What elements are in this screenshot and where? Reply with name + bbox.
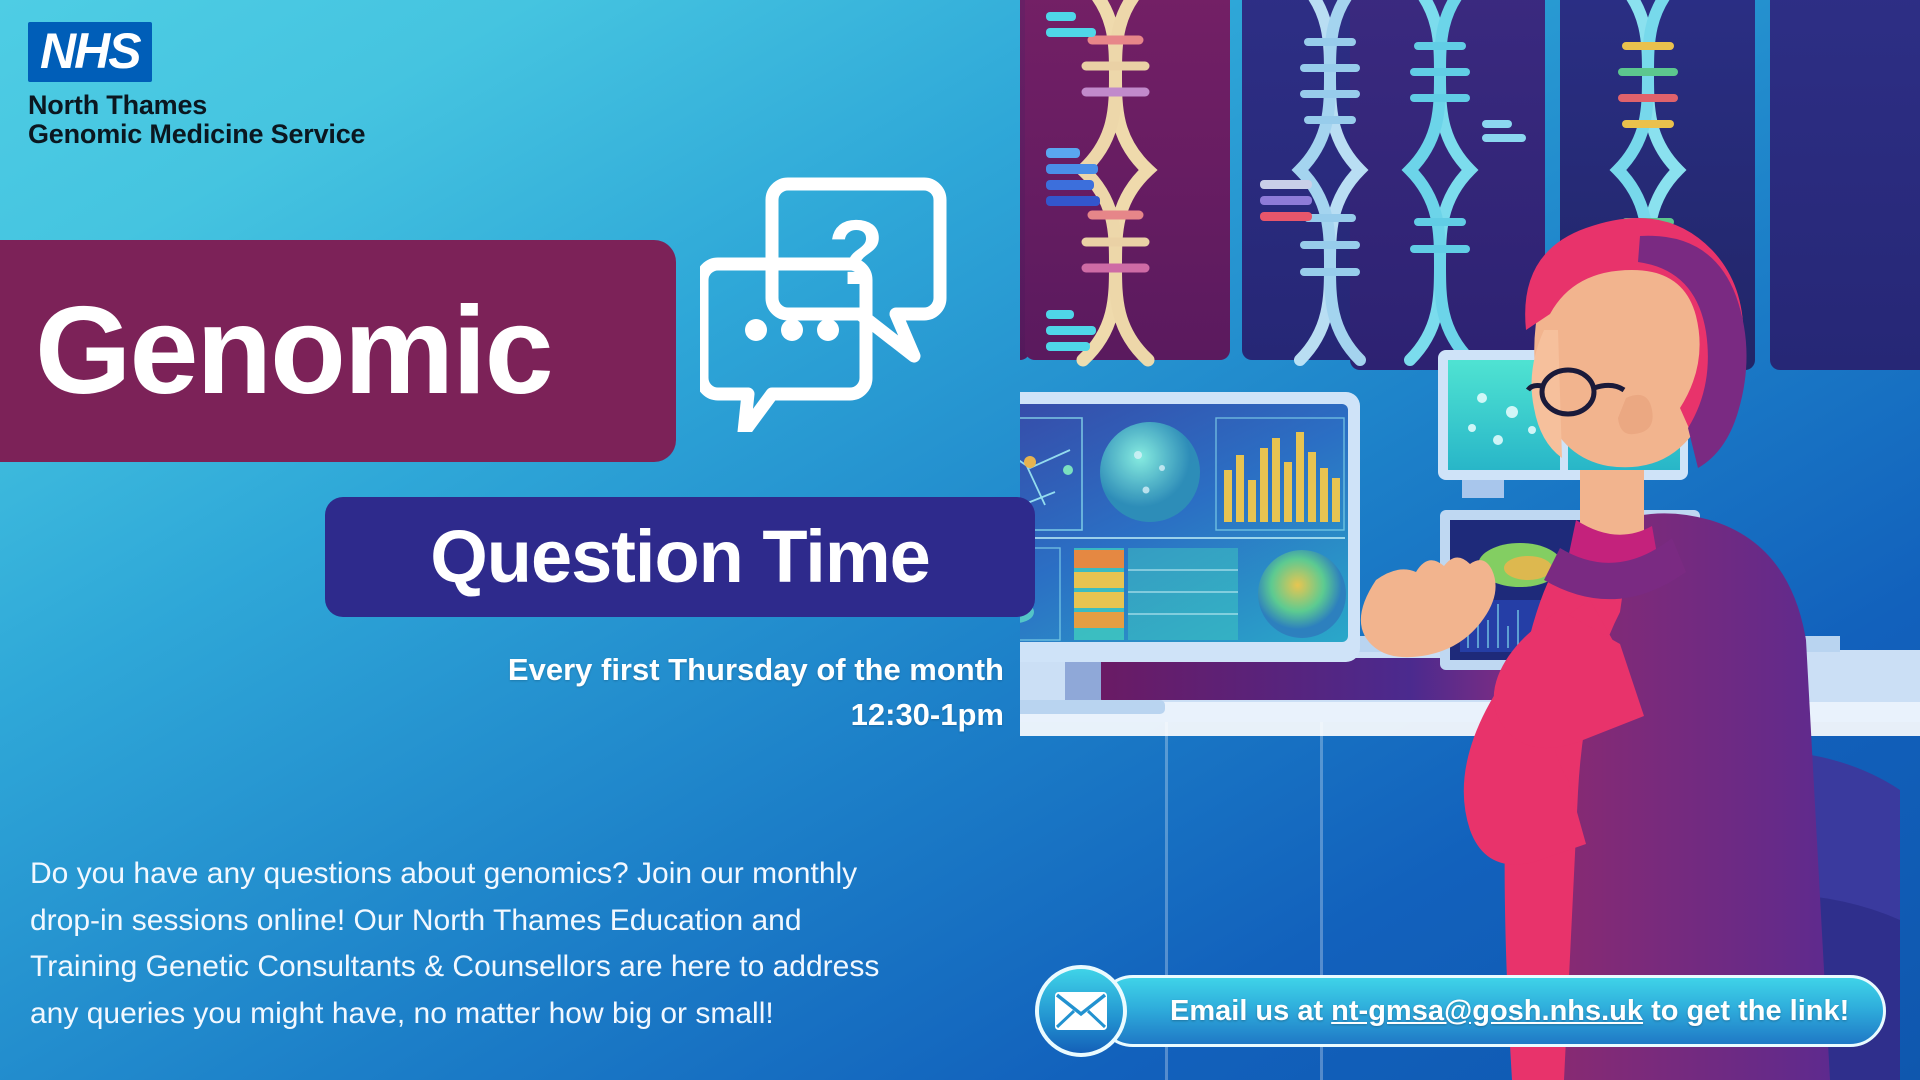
schedule-frequency: Every first Thursday of the month xyxy=(300,648,1004,693)
email-prefix: Email us at xyxy=(1170,995,1331,1027)
scientist-workstation-illustration xyxy=(1020,0,1920,1080)
question-mark-glyph: ? xyxy=(828,202,884,304)
email-address[interactable]: nt-gmsa@gosh.nhs.uk xyxy=(1331,995,1643,1027)
speech-bubbles-icon: ? xyxy=(700,172,950,437)
organisation-line-1: North Thames xyxy=(28,91,365,120)
description-line-2: drop-in sessions online! Our North Thame… xyxy=(30,902,1040,940)
description-line-3: Training Genetic Consultants & Counsello… xyxy=(30,948,1040,986)
title-primary-block: Genomic xyxy=(0,240,676,462)
cell-sphere-panel xyxy=(1258,550,1346,638)
email-cta-text: Email us at nt-gmsa@gosh.nhs.uk to get t… xyxy=(1170,995,1849,1028)
data-table-panel xyxy=(1074,548,1238,640)
dna-panel-group xyxy=(1020,0,1920,370)
nhs-wordmark: NHS xyxy=(40,26,140,76)
nhs-wordmark-box: NHS xyxy=(28,22,152,82)
email-suffix: to get the link! xyxy=(1643,995,1849,1027)
nhs-logo: NHS North Thames Genomic Medicine Servic… xyxy=(28,22,365,149)
scene-svg xyxy=(1020,0,1920,1080)
poster-canvas: NHS North Thames Genomic Medicine Servic… xyxy=(0,0,1920,1080)
schedule-time: 12:30-1pm xyxy=(300,693,1004,738)
email-cta-pill[interactable]: Email us at nt-gmsa@gosh.nhs.uk to get t… xyxy=(1097,975,1886,1047)
ellipsis-dots xyxy=(745,319,839,341)
schedule-block: Every first Thursday of the month 12:30-… xyxy=(300,648,1004,738)
title-primary-text: Genomic xyxy=(35,289,552,413)
brain-scan-panel xyxy=(1100,422,1200,522)
organisation-name: North Thames Genomic Medicine Service xyxy=(28,91,365,149)
description-line-1: Do you have any questions about genomics… xyxy=(30,855,1040,893)
description-paragraph: Do you have any questions about genomics… xyxy=(30,855,1040,1041)
description-line-4: any queries you might have, no matter ho… xyxy=(30,995,1040,1033)
envelope-icon xyxy=(1035,965,1127,1057)
title-secondary-block: Question Time xyxy=(325,497,1035,617)
organisation-line-2: Genomic Medicine Service xyxy=(28,120,365,149)
title-secondary-text: Question Time xyxy=(430,520,930,594)
